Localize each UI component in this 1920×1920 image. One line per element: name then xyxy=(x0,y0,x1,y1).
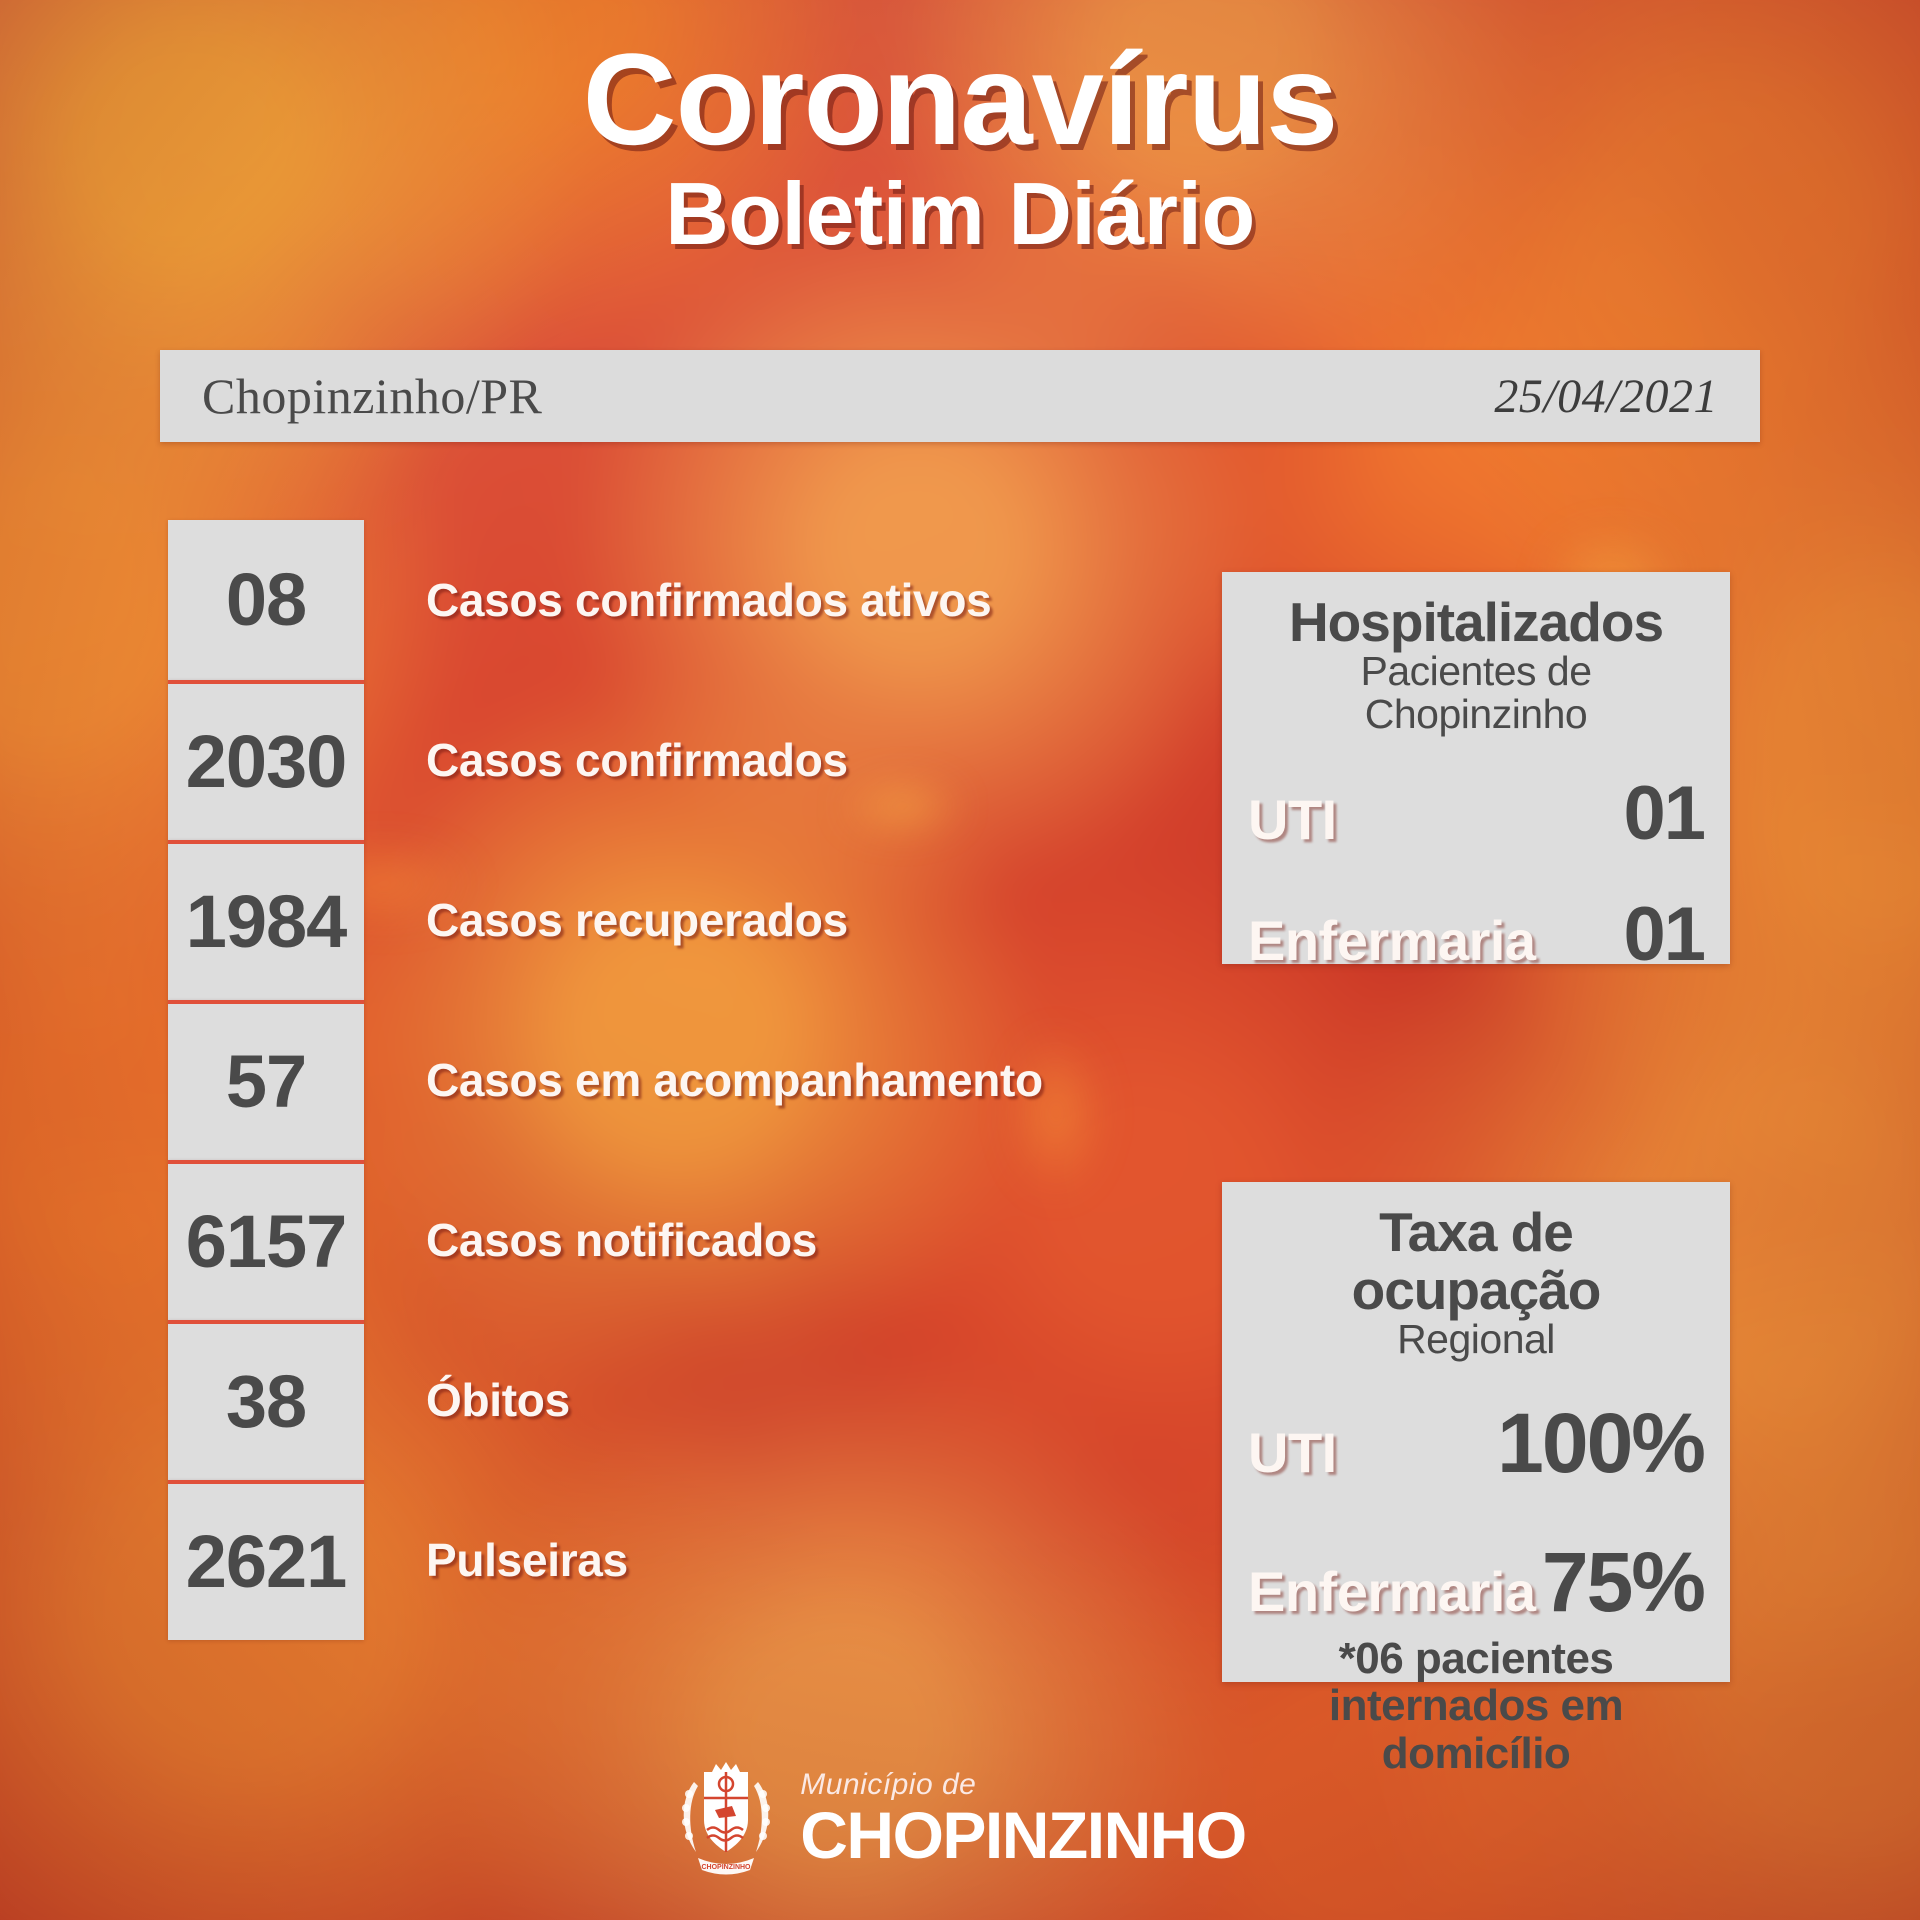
stat-label: Casos notificados xyxy=(426,1213,817,1267)
statistics-list: 08 Casos confirmados ativos 2030 Casos c… xyxy=(168,520,1168,1640)
stat-row: 57 Casos em acompanhamento xyxy=(168,1000,1168,1160)
occupancy-icu-label: UTI xyxy=(1248,1420,1337,1485)
stat-row: 2030 Casos confirmados xyxy=(168,680,1168,840)
bulletin-date: 25/04/2021 xyxy=(1494,369,1718,424)
page-title: Coronavírus xyxy=(0,34,1920,164)
footer-municipality: CHOPINZINHO xyxy=(800,1802,1246,1868)
hospitalized-row-icu: UTI 01 xyxy=(1248,770,1704,857)
stat-value-box: 6157 xyxy=(168,1160,364,1320)
stat-value-box: 08 xyxy=(168,520,364,680)
stat-value-box: 2621 xyxy=(168,1480,364,1640)
stat-value: 1984 xyxy=(186,885,347,959)
stat-label: Casos em acompanhamento xyxy=(426,1053,1043,1107)
stat-label: Pulseiras xyxy=(426,1533,628,1587)
occupancy-ward-label: Enfermaria xyxy=(1248,1559,1536,1624)
stat-value: 38 xyxy=(226,1365,306,1439)
occupancy-ward-value: 75% xyxy=(1542,1534,1704,1631)
stat-value: 08 xyxy=(226,563,306,637)
stat-label: Casos confirmados xyxy=(426,733,848,787)
occupancy-footnote: *06 pacientes internados em domicílio xyxy=(1248,1635,1704,1778)
stat-value: 2621 xyxy=(186,1525,347,1599)
stat-value-box: 38 xyxy=(168,1320,364,1480)
city-label: Chopinzinho/PR xyxy=(202,367,542,425)
footer-logo: CHOPINZINHO Município de CHOPINZINHO xyxy=(0,1758,1920,1880)
occupancy-row-icu: UTI 100% xyxy=(1248,1395,1704,1492)
stat-value-box: 2030 xyxy=(168,680,364,840)
stat-label: Casos recuperados xyxy=(426,893,848,947)
occupancy-icu-value: 100% xyxy=(1497,1395,1704,1492)
stat-value: 57 xyxy=(226,1045,306,1119)
hospitalized-ward-value: 01 xyxy=(1623,891,1704,978)
hospitalized-panel-subtitle: Pacientes de Chopinzinho xyxy=(1248,650,1704,736)
occupancy-panel-title: Taxa de ocupação xyxy=(1248,1204,1704,1320)
stat-row: 6157 Casos notificados xyxy=(168,1160,1168,1320)
location-date-bar: Chopinzinho/PR 25/04/2021 xyxy=(160,350,1760,442)
stat-label: Óbitos xyxy=(426,1373,570,1427)
stat-value-box: 1984 xyxy=(168,840,364,1000)
hospitalized-icu-label: UTI xyxy=(1248,787,1337,852)
page-subtitle: Boletim Diário xyxy=(0,168,1920,260)
stat-label: Casos confirmados ativos xyxy=(426,573,991,627)
stat-value: 6157 xyxy=(186,1205,347,1279)
poster-header: Coronavírus Boletim Diário xyxy=(0,0,1920,260)
stat-value-box: 57 xyxy=(168,1000,364,1160)
stat-row: 1984 Casos recuperados xyxy=(168,840,1168,1000)
hospitalized-panel: Hospitalizados Pacientes de Chopinzinho … xyxy=(1222,572,1730,964)
poster-root: Coronavírus Boletim Diário Chopinzinho/P… xyxy=(0,0,1920,1920)
svg-text:CHOPINZINHO: CHOPINZINHO xyxy=(702,1864,752,1871)
hospitalized-icu-value: 01 xyxy=(1623,770,1704,857)
hospitalized-row-ward: Enfermaria 01 xyxy=(1248,891,1704,978)
occupancy-panel: Taxa de ocupação Regional UTI 100% Enfer… xyxy=(1222,1182,1730,1682)
stat-row: 2621 Pulseiras xyxy=(168,1480,1168,1640)
stat-row: 38 Óbitos xyxy=(168,1320,1168,1480)
hospitalized-ward-label: Enfermaria xyxy=(1248,908,1536,973)
stat-value: 2030 xyxy=(186,725,347,799)
occupancy-row-ward: Enfermaria 75% xyxy=(1248,1534,1704,1631)
occupancy-panel-subtitle: Regional xyxy=(1248,1318,1704,1361)
footer-prefix: Município de xyxy=(800,1770,1246,1800)
hospitalized-panel-title: Hospitalizados xyxy=(1248,594,1704,652)
coat-of-arms-icon: CHOPINZINHO xyxy=(674,1758,778,1880)
stat-row: 08 Casos confirmados ativos xyxy=(168,520,1168,680)
